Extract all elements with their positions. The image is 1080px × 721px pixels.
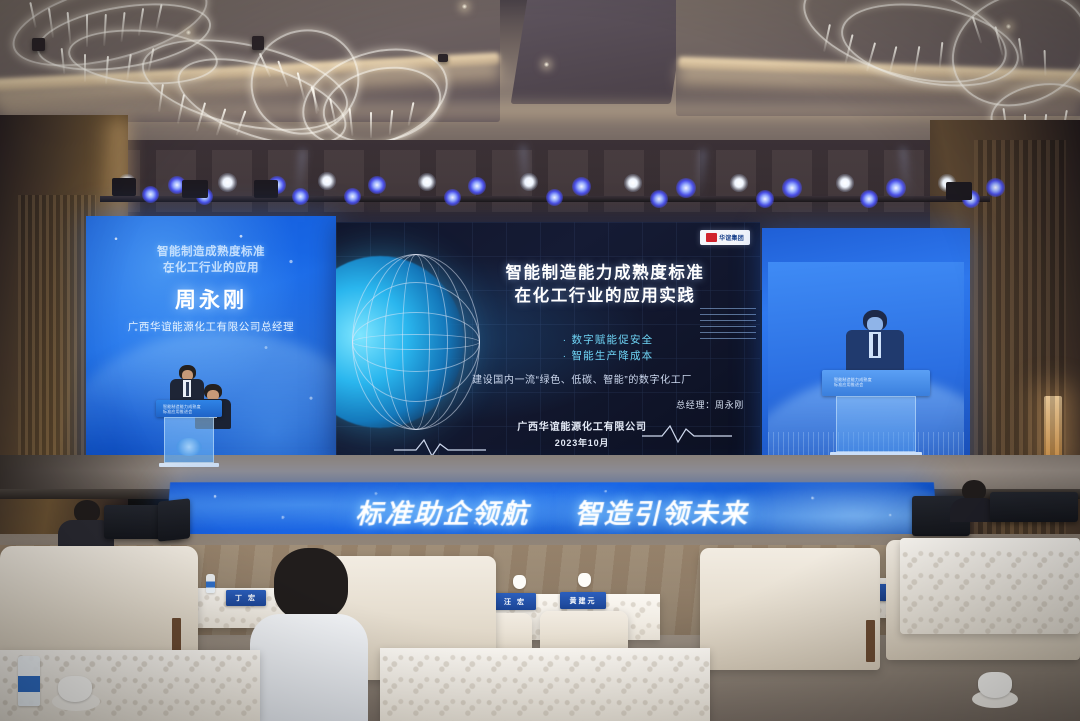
stage-light-blue xyxy=(368,176,386,194)
light-fixture-housing xyxy=(112,178,136,196)
ceiling-projector xyxy=(252,36,264,50)
ceiling-coffer-center xyxy=(511,0,690,104)
main-title-line1: 智能制造能力成熟度标准 xyxy=(464,262,746,285)
stage-light-white xyxy=(418,173,436,191)
feed-podium-text-line2: 标准应用推进会 xyxy=(834,382,918,387)
left-screen-topic-line1: 智能制造成熟度标准 xyxy=(86,244,336,260)
stage-light-blue xyxy=(142,186,159,203)
name-card: 汪 宏 xyxy=(494,593,536,610)
attendee-foreground-center xyxy=(250,548,368,721)
stage-light-blue xyxy=(860,190,878,208)
stage-light-blue xyxy=(986,178,1005,197)
light-fixture-housing xyxy=(254,180,278,198)
wall-sconce-light xyxy=(1044,396,1062,458)
main-presentation-screen: 华谊集团 智能制造能力成熟度标准 在化工行业的应用实践 数字赋 xyxy=(336,222,760,465)
globe-wireframe-lines xyxy=(352,254,480,430)
podium-globe-graphic xyxy=(176,438,202,456)
stage-light-blue xyxy=(756,190,774,208)
teacup xyxy=(58,676,92,702)
table-lace-right-large xyxy=(900,548,1080,636)
left-screen-topic: 智能制造成熟度标准 在化工行业的应用 xyxy=(86,244,336,276)
stage-light-blue xyxy=(546,189,563,206)
name-card: 黄建元 xyxy=(560,592,606,609)
right-projection-screen: 智能制造能力成熟度 标准应用推进会 xyxy=(762,228,970,476)
stage-light-blue xyxy=(444,189,461,206)
water-bottle xyxy=(18,656,40,706)
ekg-line-right xyxy=(642,422,732,444)
ceiling-speaker xyxy=(32,38,45,51)
main-screen-tagline: 建设国内一流“绿色、低碳、智能”的数字化工厂 xyxy=(422,371,742,386)
main-bullet-item: 智能生产降成本 xyxy=(488,348,728,364)
ceiling-downlight xyxy=(544,62,549,67)
left-screen-topic-line2: 在化工行业的应用 xyxy=(86,260,336,276)
stage-light-white xyxy=(218,173,237,192)
podium-text-line2: 标准应用推进会 xyxy=(163,409,215,414)
monitor-stand xyxy=(158,498,190,541)
stage-light-white xyxy=(318,172,336,190)
ceiling-sensor xyxy=(438,54,448,62)
confidence-monitor-far-right xyxy=(990,492,1078,522)
light-fixture-housing xyxy=(946,182,972,200)
water-bottle xyxy=(206,574,215,593)
conference-hall-photo: 智能制造成熟度标准 在化工行业的应用 周永刚 广西华谊能源化工有限公司总经理 华… xyxy=(0,0,1080,721)
ceiling-downlight xyxy=(462,4,467,9)
led-banner-text-right: 智造引领未来 xyxy=(574,499,749,529)
led-banner-text-left: 标准助企领航 xyxy=(355,499,530,529)
stage-light-blue xyxy=(782,178,802,198)
foreground-table-center-lace xyxy=(380,652,710,721)
ceiling-downlight xyxy=(186,30,191,35)
stage-light-blue xyxy=(676,178,696,198)
stage-light-white xyxy=(836,174,854,192)
main-title-line2: 在化工行业的应用实践 xyxy=(464,285,746,308)
main-screen-title: 智能制造能力成熟度标准 在化工行业的应用实践 xyxy=(464,262,746,308)
stage-light-white xyxy=(624,174,642,192)
stage-podium: 智能制造能力成熟度 标准应用推进会 xyxy=(156,400,222,470)
main-screen-presenter-role: 总经理：周永刚 xyxy=(676,398,744,411)
stage-light-blue xyxy=(572,177,591,196)
feed-podium: 智能制造能力成熟度 标准应用推进会 xyxy=(822,370,930,466)
teacup xyxy=(578,573,591,587)
main-bullet-item: 数字赋能促安全 xyxy=(488,332,728,348)
stage-light-blue xyxy=(468,177,486,195)
huayi-logo-mark-icon xyxy=(706,233,717,242)
led-banner-text: 标准助企领航 智造引领未来 xyxy=(166,492,937,531)
lighting-truss xyxy=(100,196,990,202)
teacup xyxy=(513,575,526,589)
left-screen-speaker-title: 广西华谊能源化工有限公司总经理 xyxy=(86,319,336,334)
ceiling-downlight xyxy=(1006,24,1011,29)
foreground-chair-mid-right xyxy=(700,548,880,670)
light-fixture-housing xyxy=(182,180,208,198)
stage-light-white xyxy=(730,174,748,192)
huayi-group-logo: 华谊集团 xyxy=(700,230,750,245)
main-screen-bullet-list: 数字赋能促安全 智能生产降成本 xyxy=(488,332,728,364)
led-stage-banner: 标准助企领航 智造引领未来 xyxy=(166,482,938,539)
stage-light-blue xyxy=(650,190,668,208)
stage-light-blue xyxy=(344,188,361,205)
live-camera-feed: 智能制造能力成熟度 标准应用推进会 xyxy=(768,262,964,466)
teacup xyxy=(978,672,1012,698)
huayi-logo-text: 华谊集团 xyxy=(719,233,744,242)
chair-leg xyxy=(866,620,875,662)
left-screen-speaker-name: 周永刚 xyxy=(86,284,336,314)
